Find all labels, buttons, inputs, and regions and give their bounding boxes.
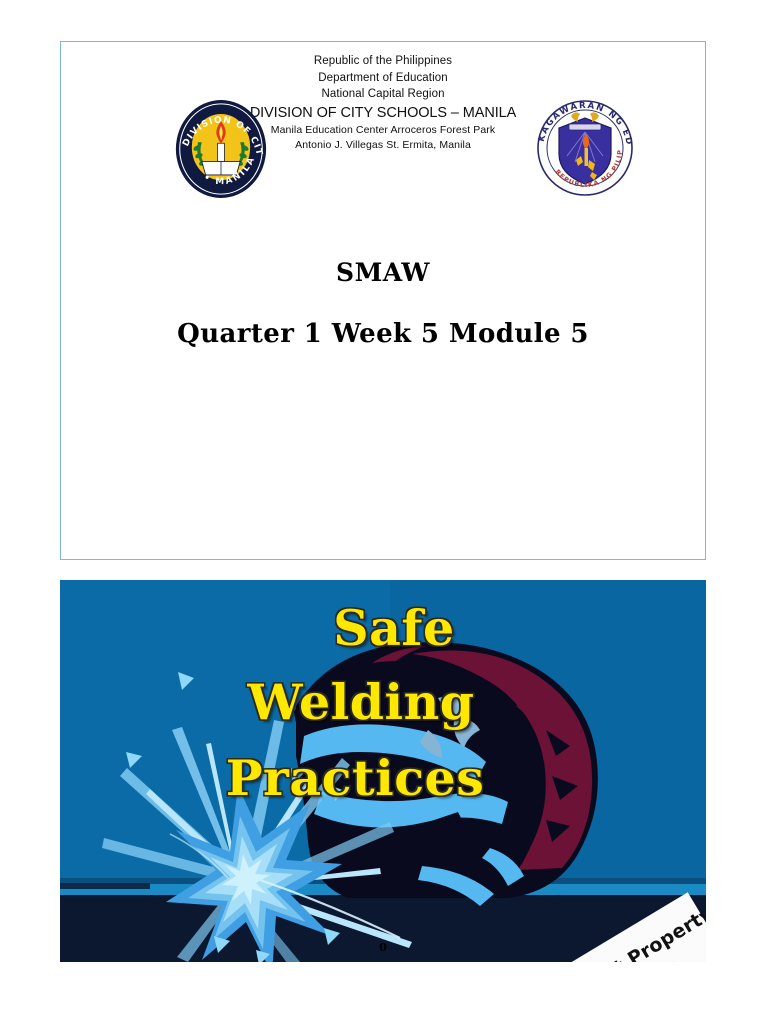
cover-illustration: Safe Welding Practices Government Proper… — [60, 580, 706, 962]
letterhead-line-department: Department of Education — [61, 70, 705, 87]
letterhead: Republic of the Philippines Department o… — [61, 42, 705, 172]
division-of-city-schools-manila-seal-icon: DIVISION OF CITY SCHOOLS • MANILA • — [173, 98, 269, 200]
letterhead-line-republic: Republic of the Philippines — [61, 53, 705, 70]
page-number: 0 — [60, 941, 706, 954]
module-title-block: SMAW Quarter 1 Week 5 Module 5 — [61, 258, 705, 349]
module-quarter-week-heading: Quarter 1 Week 5 Module 5 — [61, 319, 705, 349]
department-of-education-seal-icon: KAGAWARAN NG EDUKASYON REPUBLIKA NG PILI… — [535, 98, 635, 198]
module-subject-heading: SMAW — [61, 258, 705, 287]
welder-with-arc-sparks-illustration — [60, 580, 706, 962]
document-page-panel: Republic of the Philippines Department o… — [60, 41, 706, 560]
